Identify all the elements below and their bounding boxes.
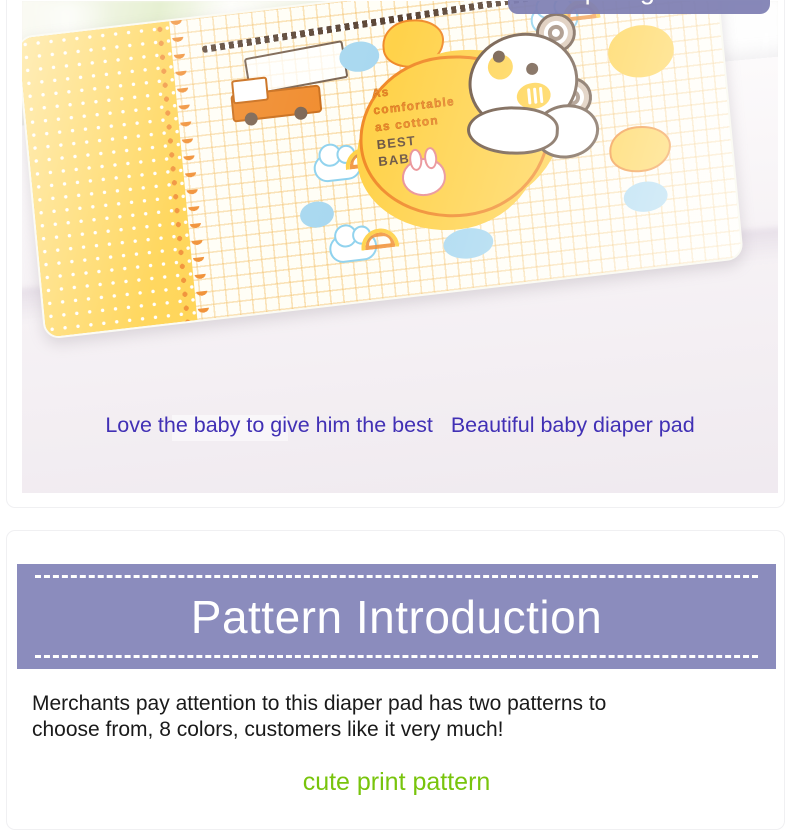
bear-arm-shape: [466, 105, 560, 155]
photo-caption: Love the baby to give him the bestBeauti…: [22, 413, 778, 438]
muzzle-stripe: [533, 88, 537, 104]
bear-eye-icon: [526, 62, 539, 75]
bear-icon: [439, 7, 622, 176]
muzzle-stripe: [527, 88, 531, 104]
product-photo-card: BEST BABY: [6, 0, 785, 508]
caption-right-text: Beautiful baby diaper pad: [451, 413, 695, 437]
truck-cab-shape: [231, 76, 269, 104]
product-photo: BEST BABY: [22, 1, 778, 493]
pattern-introduction-banner: Pattern Introduction: [17, 564, 776, 669]
pattern-introduction-body: Merchants pay attention to this diaper p…: [32, 691, 664, 743]
pattern-introduction-subtitle: cute print pattern: [7, 768, 785, 797]
caption-left-text: Love the baby to give him the best: [105, 413, 433, 437]
pattern-introduction-title: Pattern Introduction: [191, 594, 602, 640]
pattern-introduction-card: Pattern Introduction Merchants pay atten…: [6, 530, 785, 830]
muzzle-stripe: [539, 87, 543, 103]
